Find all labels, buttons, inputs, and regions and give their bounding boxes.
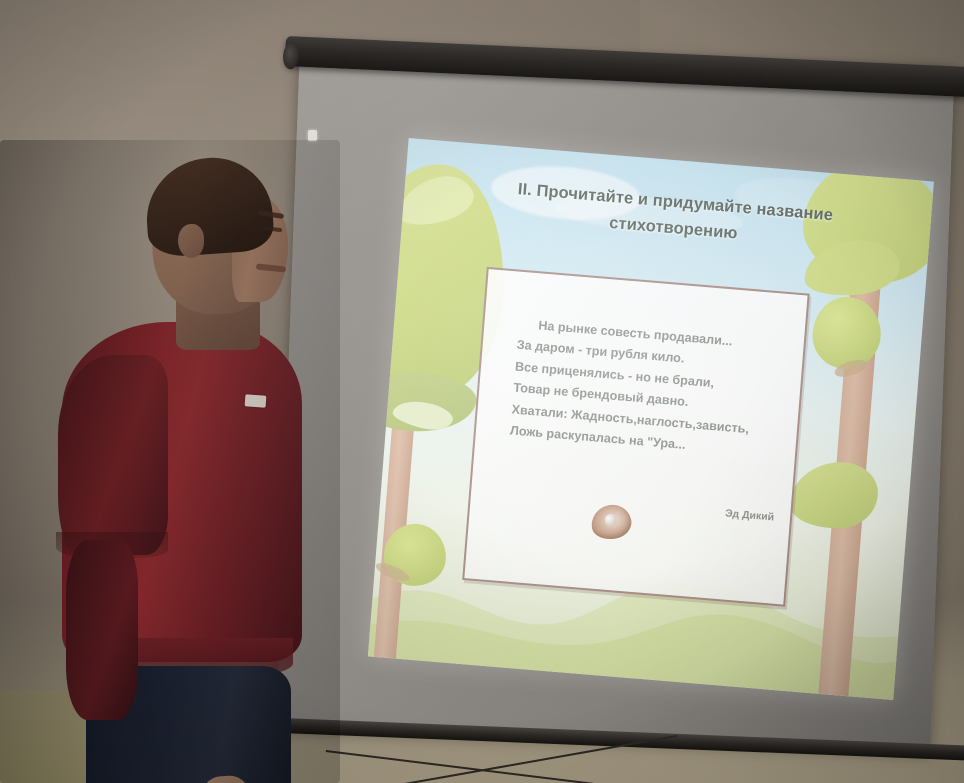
shirt-label <box>245 394 267 407</box>
tree-foliage-right-lower <box>789 461 879 529</box>
projected-slide: II. Прочитайте и придумайте название сти… <box>368 138 934 700</box>
poem-text: На рынке совесть продавали... За даром -… <box>509 314 798 465</box>
presenter-person <box>0 140 340 783</box>
person-shoulder <box>58 355 168 555</box>
person-hair <box>143 154 275 259</box>
shell-pearl-icon <box>588 501 634 542</box>
projector-screen-surface: II. Прочитайте и придумайте название сти… <box>275 44 954 753</box>
poem-author: Эд Дикий <box>725 507 775 523</box>
person-arm <box>66 540 138 720</box>
poem-textbox: На рынке совесть продавали... За даром -… <box>462 267 810 607</box>
photo-scene: II. Прочитайте и придумайте название сти… <box>0 0 964 783</box>
roller-end-cap <box>282 42 300 70</box>
projector-screen: II. Прочитайте и придумайте название сти… <box>286 34 964 724</box>
person-ear <box>178 224 204 258</box>
